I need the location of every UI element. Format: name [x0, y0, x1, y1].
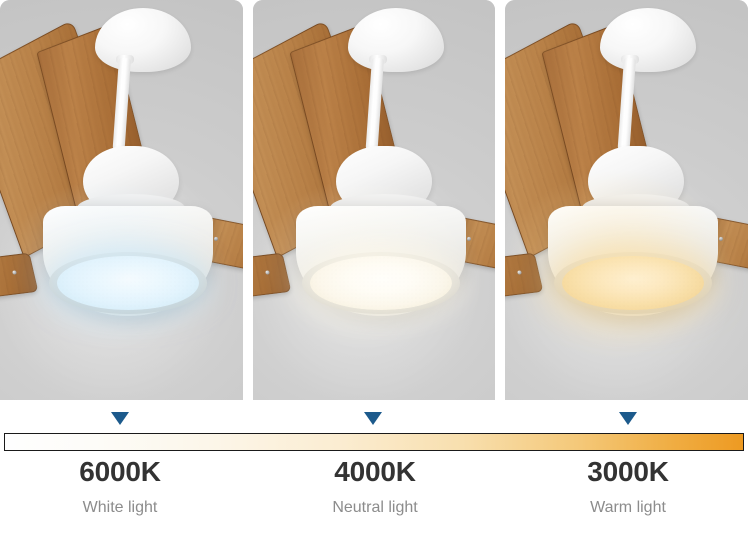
light-name: Warm light	[518, 498, 738, 518]
ceiling-fan-illustration	[253, 0, 496, 400]
light-name: Neutral light	[265, 498, 485, 518]
blade-screw-icon	[719, 237, 724, 242]
lamp-bowl	[296, 206, 466, 316]
product-image-panel-warm[interactable]	[505, 0, 748, 400]
color-temperature-infographic: 6000K White light 4000K Neutral light 30…	[0, 0, 748, 535]
ceiling-canopy	[95, 8, 191, 72]
blade-screw-icon	[265, 270, 270, 274]
fan-blade-left	[253, 253, 291, 304]
ceiling-canopy	[348, 8, 444, 72]
blade-screw-icon	[213, 237, 218, 242]
blade-screw-icon	[466, 237, 471, 242]
light-diffuser-cool	[57, 256, 199, 310]
kelvin-value: 6000K	[10, 455, 230, 489]
triangle-down-icon	[111, 412, 129, 425]
blade-screw-icon	[517, 270, 522, 274]
ceiling-fan-illustration	[0, 0, 243, 400]
fan-blade-left	[505, 253, 543, 304]
light-diffuser-neutral	[310, 256, 452, 310]
lamp-bowl	[548, 206, 718, 316]
lamp-bowl	[43, 206, 213, 316]
color-temperature-gradient-bar	[4, 433, 744, 451]
kelvin-value: 3000K	[518, 455, 738, 489]
label-row: 6000K White light 4000K Neutral light 30…	[0, 455, 748, 535]
ceiling-canopy	[600, 8, 696, 72]
marker-row	[0, 408, 748, 430]
label-group-3000k: 3000K Warm light	[518, 455, 738, 518]
blade-screw-icon	[12, 270, 17, 274]
label-group-4000k: 4000K Neutral light	[265, 455, 485, 518]
triangle-down-icon	[619, 412, 637, 425]
panel-row	[0, 0, 748, 400]
product-image-panel-neutral[interactable]	[253, 0, 496, 400]
kelvin-value: 4000K	[265, 455, 485, 489]
light-diffuser-warm	[562, 256, 704, 310]
ceiling-fan-illustration	[505, 0, 748, 400]
triangle-down-icon	[364, 412, 382, 425]
light-name: White light	[10, 498, 230, 518]
fan-blade-left	[0, 253, 38, 304]
product-image-panel-cool[interactable]	[0, 0, 243, 400]
label-group-6000k: 6000K White light	[10, 455, 230, 518]
